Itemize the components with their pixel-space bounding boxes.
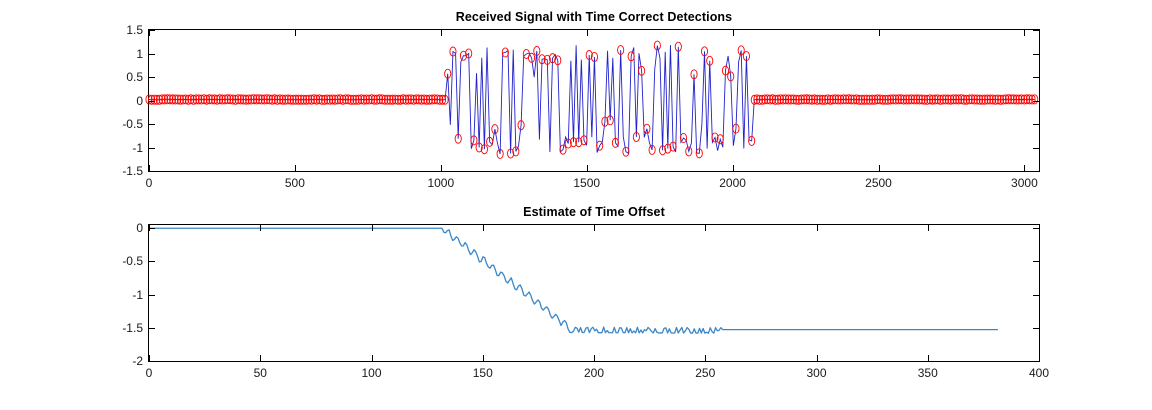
x-tick <box>817 355 818 361</box>
x-tick <box>817 225 818 231</box>
y-tick <box>1033 101 1039 102</box>
y-tick <box>1033 261 1039 262</box>
y-tick-label: 0 <box>136 94 143 108</box>
x-tick <box>705 225 706 231</box>
matlab-figure: Received Signal with Time Correct Detect… <box>0 0 1152 410</box>
x-tick <box>483 225 484 231</box>
y-tick <box>1033 77 1039 78</box>
detection-markers <box>146 41 1038 158</box>
y-tick <box>1033 295 1039 296</box>
y-tick <box>149 77 155 78</box>
x-tick-label: 200 <box>584 366 604 380</box>
y-tick <box>149 54 155 55</box>
plot-title-time-offset: Estimate of Time Offset <box>149 205 1039 219</box>
y-tick <box>149 148 155 149</box>
plot-title-received-signal: Received Signal with Time Correct Detect… <box>149 10 1039 24</box>
x-tick <box>587 30 588 36</box>
x-tick <box>1024 165 1025 171</box>
y-tick-label: 1 <box>136 47 143 61</box>
y-tick <box>149 228 155 229</box>
y-tick <box>1033 328 1039 329</box>
y-tick-label: -1 <box>132 288 143 302</box>
x-tick-label: 0 <box>146 176 153 190</box>
x-tick-label: 250 <box>695 366 715 380</box>
x-tick <box>441 165 442 171</box>
received-signal-plot-area <box>149 30 1039 171</box>
x-tick-label: 50 <box>254 366 267 380</box>
y-tick <box>149 328 155 329</box>
x-tick-label: 2500 <box>865 176 892 190</box>
y-tick <box>149 261 155 262</box>
y-tick <box>149 124 155 125</box>
y-tick <box>149 30 155 31</box>
y-tick-label: 0.5 <box>126 70 143 84</box>
x-tick <box>879 30 880 36</box>
y-tick <box>149 101 155 102</box>
y-tick-label: -0.5 <box>122 254 143 268</box>
x-tick <box>587 165 588 171</box>
y-tick-label: -1.5 <box>122 164 143 178</box>
x-tick-label: 0 <box>146 366 153 380</box>
x-tick <box>1024 30 1025 36</box>
x-tick <box>928 355 929 361</box>
y-tick-label: 0 <box>136 221 143 235</box>
x-tick-label: 1000 <box>427 176 454 190</box>
x-tick-label: 350 <box>918 366 938 380</box>
x-tick-label: 2000 <box>719 176 746 190</box>
y-tick <box>149 295 155 296</box>
x-tick <box>295 165 296 171</box>
y-tick <box>1033 124 1039 125</box>
y-tick-label: -1.5 <box>122 321 143 335</box>
x-tick-label: 1500 <box>573 176 600 190</box>
y-tick <box>1033 30 1039 31</box>
x-tick <box>441 30 442 36</box>
x-tick <box>594 225 595 231</box>
x-tick <box>733 165 734 171</box>
x-tick <box>483 355 484 361</box>
axes-received-signal: Received Signal with Time Correct Detect… <box>148 29 1040 172</box>
y-tick <box>149 361 155 362</box>
y-tick-label: -1 <box>132 141 143 155</box>
x-tick <box>372 225 373 231</box>
x-tick-label: 500 <box>285 176 305 190</box>
x-tick <box>260 225 261 231</box>
x-tick <box>733 30 734 36</box>
y-tick-label: -2 <box>132 354 143 368</box>
y-tick <box>1033 54 1039 55</box>
x-tick <box>1039 225 1040 231</box>
x-tick-label: 400 <box>1029 366 1049 380</box>
y-tick <box>1033 228 1039 229</box>
y-tick <box>149 171 155 172</box>
y-tick <box>1033 361 1039 362</box>
time-offset-line <box>149 228 998 333</box>
x-tick <box>372 355 373 361</box>
x-tick-label: 300 <box>806 366 826 380</box>
y-tick <box>1033 171 1039 172</box>
x-tick <box>260 355 261 361</box>
x-tick <box>594 355 595 361</box>
y-tick-label: 1.5 <box>126 23 143 37</box>
x-tick <box>295 30 296 36</box>
axes-time-offset: Estimate of Time Offset 0501001502002503… <box>148 224 1040 362</box>
x-tick-label: 3000 <box>1011 176 1038 190</box>
x-tick <box>705 355 706 361</box>
x-tick <box>928 225 929 231</box>
x-tick-label: 100 <box>361 366 381 380</box>
y-tick <box>1033 148 1039 149</box>
x-tick-label: 150 <box>473 366 493 380</box>
y-tick-label: -0.5 <box>122 117 143 131</box>
time-offset-plot-area <box>149 225 1039 361</box>
x-tick <box>879 165 880 171</box>
x-tick <box>1039 355 1040 361</box>
